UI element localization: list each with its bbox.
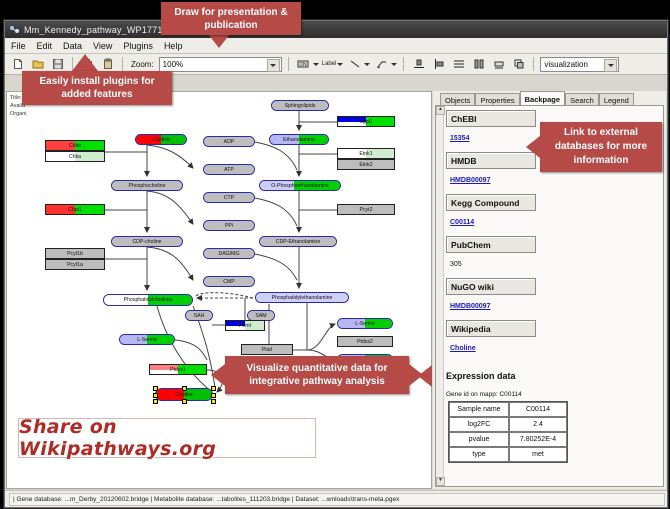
expr-key: Sample name [449, 402, 509, 417]
node-label: CTP [224, 195, 234, 201]
metabolite-node-sah[interactable]: SAH [185, 310, 213, 321]
node-label: Etnk2 [359, 162, 372, 168]
db-header-nugo-wiki: NuGO wiki [446, 278, 536, 295]
chevron-down-icon[interactable] [604, 59, 617, 72]
metabolite-node-o-phosphoethanolamine[interactable]: O-Phosphoethanolamine [259, 180, 341, 191]
db-value-nugo-wiki[interactable]: HMDB00097 [450, 303, 490, 310]
toolbar-separator [533, 57, 534, 71]
node-label: Ptdss2 [357, 339, 373, 345]
node-label: CMP [223, 279, 235, 285]
expr-value: met [509, 447, 567, 462]
node-label: L-Serine [355, 321, 375, 327]
expr-value: 2.4 [509, 417, 567, 432]
tab-backpage[interactable]: Backpage [520, 91, 565, 105]
metabolite-node-l-serine-left[interactable]: L-Serine [119, 334, 175, 345]
metabolite-node-cdp-ethanolamine[interactable]: CDP-Ethanolamine [259, 236, 337, 247]
selection-handle[interactable] [153, 386, 158, 391]
table-row: typemet [449, 447, 567, 462]
align-left-icon[interactable] [430, 56, 447, 73]
menu-item-edit[interactable]: Edit [36, 41, 54, 51]
node-label: Phosphatidylcholines [124, 297, 173, 303]
node-label: Sgpl1 [359, 119, 372, 125]
callout-link: Link to external databases for more info… [540, 122, 662, 172]
metabolite-node-ctp[interactable]: CTP [203, 192, 255, 203]
status-text: | Gene database: ...m_Derby_20120602.bri… [9, 493, 665, 506]
expression-table: Sample nameC00114log2FC2.4pvalue7.80252E… [448, 401, 568, 463]
same-height-icon[interactable] [490, 56, 507, 73]
spacer [446, 271, 659, 278]
table-row: log2FC2.4 [449, 417, 567, 432]
node-label: Pcyt2 [360, 207, 373, 213]
node-label: PPi [225, 223, 233, 229]
paste-icon[interactable] [99, 56, 116, 73]
chevron-down-icon[interactable] [313, 63, 319, 66]
interaction-tool[interactable] [373, 56, 397, 73]
metabolite-node-ppi[interactable]: PPi [203, 220, 255, 231]
menu-item-view[interactable]: View [92, 41, 113, 51]
metabolite-node-adp[interactable]: ADP [203, 136, 255, 147]
callout-visualize-arrow-left [211, 364, 225, 386]
selection-handle[interactable] [153, 399, 158, 404]
metabolite-node-cmp[interactable]: CMP [203, 276, 255, 287]
line-tool[interactable] [346, 56, 370, 73]
node-label: ADP [224, 139, 235, 145]
metabolite-node-cdp-choline[interactable]: CDP-choline [111, 236, 183, 247]
screenshot-root: Mm_Kennedy_pathway_WP1771_45176.gpml Fil… [0, 0, 670, 509]
metabolite-node-phosphatidylcholines[interactable]: Phosphatidylcholines [103, 294, 193, 306]
label-tool[interactable]: Label [322, 61, 344, 67]
node-label: L-Serine [137, 337, 157, 343]
node-label: Sphingolipids [285, 103, 316, 109]
callout-share-text: Share on Wikipathways.org [19, 416, 315, 460]
chevron-down-icon[interactable] [391, 63, 397, 66]
db-value-chebi[interactable]: 15354 [450, 135, 469, 142]
metabolite-node-dag-mg[interactable]: DAG/MG [203, 248, 255, 259]
toolbar-separator [403, 57, 404, 71]
node-label: CDP-choline [132, 239, 161, 245]
spacer [446, 187, 659, 194]
open-folder-icon[interactable] [29, 56, 46, 73]
scroll-up-button[interactable]: ▲ [436, 106, 445, 115]
selection-handle[interactable] [211, 386, 216, 391]
db-value-wikipedia[interactable]: Choline [450, 345, 476, 352]
db-value-pubchem: 305 [450, 261, 462, 268]
visualization-combobox[interactable]: visualization [540, 57, 619, 72]
same-width-icon[interactable] [470, 56, 487, 73]
db-header-kegg-compound: Kegg Compound [446, 194, 536, 211]
save-icon[interactable] [49, 56, 66, 73]
gene-node-ptdss2[interactable]: Ptdss2 [337, 336, 393, 347]
visualization-value: visualization [544, 60, 588, 69]
node-label: SAH [194, 313, 205, 319]
db-header-chebi: ChEBI [446, 110, 536, 127]
menu-item-data[interactable]: Data [62, 41, 83, 51]
gene-node-etnk2[interactable]: Etnk2 [337, 159, 395, 170]
spacer [446, 229, 659, 236]
title-bar: Mm_Kennedy_pathway_WP1771_45176.gpml [5, 21, 667, 38]
expr-value: C00114 [509, 402, 567, 417]
expression-data-heading: Expression data [446, 371, 659, 381]
side-panel-tabs: ObjectsPropertiesBackpageSearchLegend [433, 91, 666, 105]
scroll-down-button[interactable]: ▼ [436, 477, 445, 486]
gene-node-pcyt1b[interactable]: Pcyt1b [45, 248, 105, 259]
node-label: Chkb [69, 143, 81, 149]
node-label: Phosphatidylethanolamine [272, 295, 333, 301]
db-header-hmdb: HMDB [446, 152, 536, 169]
gene-node-chkb[interactable]: Chkb [45, 140, 105, 151]
node-label: Ethanolamine [283, 137, 315, 143]
selection-handle[interactable] [182, 399, 187, 404]
callout-link-arrow [526, 136, 540, 158]
db-value-hmdb[interactable]: HMDB00097 [450, 177, 490, 184]
metabolite-node-ethanolamine-top[interactable]: Ethanolamine [269, 134, 329, 145]
metabolite-node-l-serine-right[interactable]: L-Serine [337, 318, 393, 329]
new-file-icon[interactable] [9, 56, 26, 73]
metabolite-node-phosphocholine[interactable]: Phosphocholine [111, 180, 183, 191]
node-label: DAG/MG [218, 251, 239, 257]
gene-node-ptdss1[interactable]: Ptdss1 [149, 364, 207, 375]
metabolite-node-choline-top[interactable]: Choline [135, 134, 187, 145]
metabolite-node-sphingolipids[interactable]: Sphingolipids [271, 100, 329, 111]
chevron-down-icon[interactable] [337, 63, 343, 66]
menu-bar: File Edit Data View Plugins Help [5, 38, 667, 54]
status-bar: | Gene database: ...m_Derby_20120602.bri… [5, 490, 667, 507]
node-label: Etnk1 [359, 151, 372, 157]
metabolite-node-phosphatidylethanolamine[interactable]: Phosphatidylethanolamine [255, 292, 349, 303]
gene-node-pisd[interactable]: Pisd [241, 344, 293, 355]
toolbar-separator [288, 57, 289, 71]
callout-visualize: Visualize quantitative data for integrat… [225, 356, 409, 394]
node-label: Chpt1 [68, 207, 82, 213]
db-header-pubchem: PubChem [446, 236, 536, 253]
app-icon [9, 24, 20, 35]
datanode-tool[interactable]: DN [295, 56, 319, 73]
expr-key: type [449, 447, 509, 462]
node-label: Pcyt1a [67, 262, 83, 268]
selection-handle[interactable] [211, 399, 216, 404]
spacer [446, 313, 659, 320]
node-label: Phosphocholine [129, 183, 166, 189]
node-label: Ptdss1 [170, 367, 186, 373]
node-label: Pcyt1b [67, 251, 83, 257]
toolbar-separator [122, 57, 123, 71]
chevron-down-icon[interactable] [364, 63, 370, 66]
gene-node-etnk1[interactable]: Etnk1 [337, 148, 395, 159]
gene-node-chka[interactable]: Chka [45, 151, 105, 162]
align-bottom-icon[interactable] [410, 56, 427, 73]
menu-item-file[interactable]: File [10, 41, 27, 51]
node-label: Pisd [262, 347, 272, 353]
svg-text:DN: DN [300, 62, 308, 68]
datanode-icon[interactable]: DN [295, 56, 312, 73]
bring-to-front-icon[interactable] [510, 56, 527, 73]
spacer [446, 355, 659, 362]
chevron-down-icon[interactable] [267, 59, 280, 72]
callout-draw: Draw for presentation & publication [161, 2, 301, 35]
zoom-combobox[interactable]: 100% [159, 57, 282, 72]
table-row: pvalue7.80252E-4 [449, 432, 567, 447]
node-label: CDP-Ethanolamine [276, 239, 320, 245]
gene-node-pemt[interactable]: Pemt [225, 320, 265, 331]
metabolite-node-atp[interactable]: ATP [203, 164, 255, 175]
table-row: Sample nameC00114 [449, 402, 567, 417]
interaction-icon[interactable] [373, 56, 390, 73]
distribute-vertical-icon[interactable] [450, 56, 467, 73]
callout-draw-arrow [208, 34, 230, 48]
expr-key: log2FC [449, 417, 509, 432]
gene-id-line: Gene id on mapp: C00114 [446, 391, 659, 398]
node-label: Choline [152, 137, 170, 143]
node-label: Pemt [239, 323, 251, 329]
callout-visualize-arrow-right [409, 364, 423, 386]
menu-item-help[interactable]: Help [163, 41, 184, 51]
gene-node-chpt1[interactable]: Chpt1 [45, 204, 105, 215]
node-label: Choline [175, 392, 193, 398]
zoom-value: 100% [163, 60, 183, 69]
node-label: ATP [224, 167, 234, 173]
line-icon[interactable] [346, 56, 363, 73]
gene-node-sgpl1[interactable]: Sgpl1 [337, 116, 395, 127]
expr-value: 7.80252E-4 [509, 432, 567, 447]
node-label: Chka [69, 154, 81, 160]
selection-handle[interactable] [182, 386, 187, 391]
callout-plugins: Easily install plugins for added feature… [22, 71, 172, 105]
gene-node-pcyt1a[interactable]: Pcyt1a [45, 259, 105, 270]
menu-item-plugins[interactable]: Plugins [122, 41, 154, 51]
db-header-wikipedia: Wikipedia [446, 320, 536, 337]
node-label: SAM [255, 313, 266, 319]
gene-node-pcyt2[interactable]: Pcyt2 [337, 204, 395, 215]
expr-key: pvalue [449, 432, 509, 447]
selection-handle[interactable] [211, 393, 216, 398]
side-scrollbar[interactable]: ▲ ▼ [436, 106, 444, 486]
label-tool-text: Label [322, 61, 337, 67]
callout-plugins-arrow [72, 54, 98, 71]
zoom-label: Zoom: [131, 60, 154, 69]
node-label: O-Phosphoethanolamine [271, 183, 328, 189]
selection-handle[interactable] [153, 393, 158, 398]
db-value-kegg-compound[interactable]: C00114 [450, 219, 474, 226]
callout-share: Share on Wikipathways.org [18, 418, 316, 458]
